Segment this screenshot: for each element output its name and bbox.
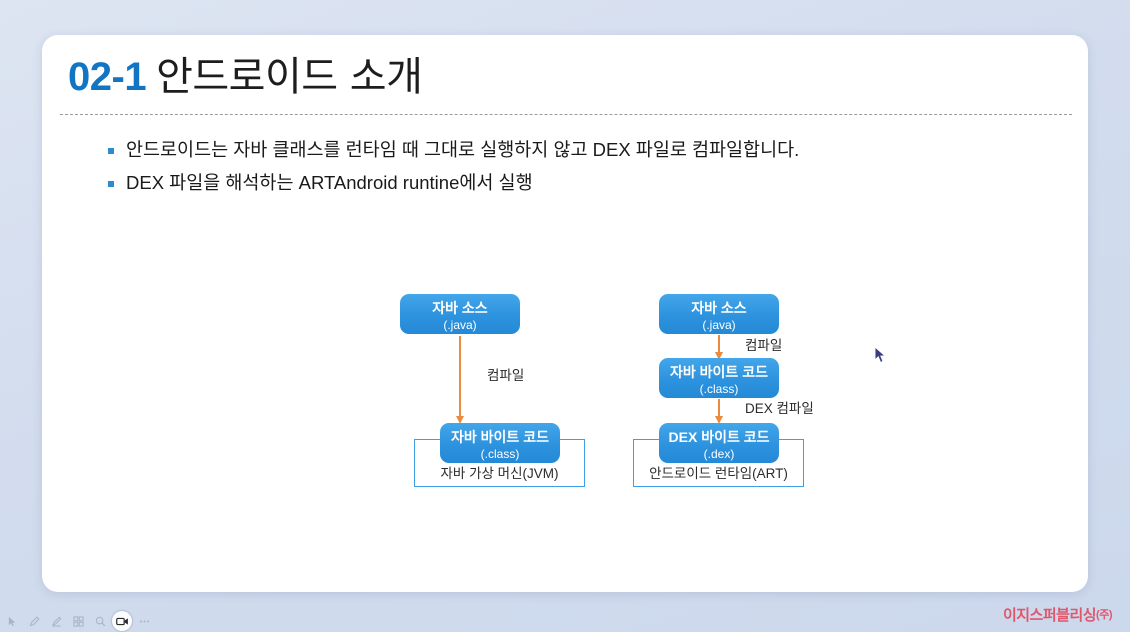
pointer-icon[interactable]	[2, 611, 22, 631]
title-divider	[60, 114, 1072, 115]
list-item: 안드로이드는 자바 클래스를 런타임 때 그대로 실행하지 않고 DEX 파일로…	[108, 138, 1008, 162]
node-java-source: 자바 소스 (.java)	[400, 294, 520, 334]
title-number: 02-1	[68, 55, 146, 99]
node-java-source: 자바 소스 (.java)	[659, 294, 779, 334]
presenter-toolbar[interactable]	[0, 610, 154, 632]
bullet-text: DEX 파일을 해석하는 ARTAndroid runtine에서 실행	[126, 171, 533, 195]
node-dex-bytecode: DEX 바이트 코드 (.dex)	[659, 423, 779, 463]
page-title: 02-1안드로이드 소개	[68, 57, 422, 97]
record-camera-icon[interactable]	[112, 611, 132, 631]
presentation-viewport: 02-1안드로이드 소개 안드로이드는 자바 클래스를 런타임 때 그대로 실행…	[0, 0, 1130, 632]
node-java-bytecode: 자바 바이트 코드 (.class)	[440, 423, 560, 463]
jvm-runtime-label: 자바 가상 머신(JVM)	[415, 462, 584, 482]
slide-card: 02-1안드로이드 소개 안드로이드는 자바 클래스를 런타임 때 그대로 실행…	[42, 35, 1088, 592]
highlighter-icon[interactable]	[46, 611, 66, 631]
diagram-area: 자바 소스 (.java) 컴파일 자바 가상 머신(JVM) 자바 바이트 코…	[42, 35, 1088, 592]
arrow-label-dex-compile: DEX 컴파일	[745, 397, 814, 417]
bullet-square-icon	[108, 148, 114, 154]
publisher-suffix: (주)	[1096, 609, 1112, 621]
title-text: 안드로이드 소개	[156, 54, 422, 100]
bullet-text: 안드로이드는 자바 클래스를 런타임 때 그대로 실행하지 않고 DEX 파일로…	[126, 138, 799, 162]
grid-slides-icon[interactable]	[68, 611, 88, 631]
zoom-icon[interactable]	[90, 611, 110, 631]
art-runtime-label: 안드로이드 런타임(ART)	[634, 462, 803, 482]
pen-icon[interactable]	[24, 611, 44, 631]
publisher-logo: 이지스퍼블리싱(주)	[1003, 604, 1112, 625]
node-java-bytecode: 자바 바이트 코드 (.class)	[659, 358, 779, 398]
list-item: DEX 파일을 해석하는 ARTAndroid runtine에서 실행	[108, 171, 1008, 195]
more-options-icon[interactable]	[134, 611, 154, 631]
publisher-name: 이지스퍼블리싱	[1003, 607, 1096, 624]
arrow-label-compile: 컴파일	[487, 364, 524, 384]
art-flow-diagram: 자바 소스 (.java) 컴파일 자바 바이트 코드 (.class) DEX…	[590, 250, 790, 460]
bullet-list: 안드로이드는 자바 클래스를 런타임 때 그대로 실행하지 않고 DEX 파일로…	[108, 138, 1008, 204]
bullet-square-icon	[108, 181, 114, 187]
mouse-cursor	[874, 346, 888, 364]
arrow-label-compile: 컴파일	[745, 334, 782, 354]
jvm-flow-diagram: 자바 소스 (.java) 컴파일 자바 가상 머신(JVM) 자바 바이트 코…	[372, 250, 572, 460]
